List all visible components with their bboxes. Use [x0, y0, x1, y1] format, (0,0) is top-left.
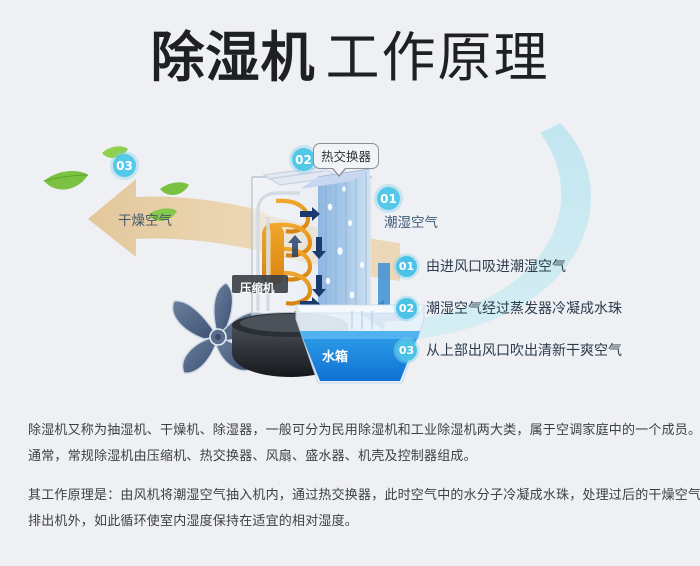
page-title-secondary: 工作原理 [326, 26, 550, 89]
legend-item-03: 03 从上部出风口吹出清新干爽空气 [396, 339, 686, 361]
legend-text-01: 由进风口吸进潮湿空气 [426, 256, 566, 276]
legend-badge-02: 02 [396, 298, 417, 319]
legend-list: 01 由进风口吸进潮湿空气 02 潮湿空气经过蒸发器冷凝成水珠 03 从上部出风… [396, 255, 686, 381]
dry-air-label: 干燥空气 [118, 209, 172, 229]
paragraph-2-line-1: 其工作原理是：由风机将潮湿空气抽入机内，通过热交换器，此时空气中的水分子冷凝成水… [28, 483, 678, 509]
legend-item-01: 01 由进风口吸进潮湿空气 [396, 255, 686, 277]
infographic-page: 除湿机工作原理 [0, 0, 700, 566]
page-title: 除湿机工作原理 [0, 28, 700, 88]
legend-badge-03: 03 [396, 340, 417, 361]
diagram-badge-03: 03 [113, 154, 136, 177]
legend-item-02: 02 潮湿空气经过蒸发器冷凝成水珠 [396, 297, 686, 319]
compressor-label: 压缩机 [240, 280, 275, 296]
diagram-badge-02: 02 [292, 148, 315, 171]
legend-text-03: 从上部出风口吹出清新干爽空气 [426, 340, 622, 360]
page-title-primary: 除湿机 [151, 26, 316, 89]
water-tank-label: 水箱 [322, 346, 348, 365]
humid-air-label: 潮湿空气 [384, 211, 438, 231]
paragraph-1-line-1: 除湿机又称为抽湿机、干燥机、除湿器，一般可分为民用除湿机和工业除湿机两大类，属于… [28, 418, 678, 444]
paragraph-2: 其工作原理是：由风机将潮湿空气抽入机内，通过热交换器，此时空气中的水分子冷凝成水… [28, 483, 678, 535]
paragraph-1: 除湿机又称为抽湿机、干燥机、除湿器，一般可分为民用除湿机和工业除湿机两大类，属于… [28, 418, 678, 470]
paragraph-2-line-2: 排出机外，如此循环使室内湿度保持在适宜的相对湿度。 [28, 509, 678, 535]
legend-text-02: 潮湿空气经过蒸发器冷凝成水珠 [426, 298, 622, 318]
heat-exchanger-callout: 热交换器 [313, 143, 379, 169]
paragraph-1-line-2: 通常，常规除湿机由压缩机、热交换器、风扇、盛水器、机壳及控制器组成。 [28, 444, 678, 470]
legend-badge-01: 01 [396, 256, 417, 277]
diagram-badge-01: 01 [377, 187, 400, 210]
body-copy: 除湿机又称为抽湿机、干燥机、除湿器，一般可分为民用除湿机和工业除湿机两大类，属于… [28, 418, 678, 535]
